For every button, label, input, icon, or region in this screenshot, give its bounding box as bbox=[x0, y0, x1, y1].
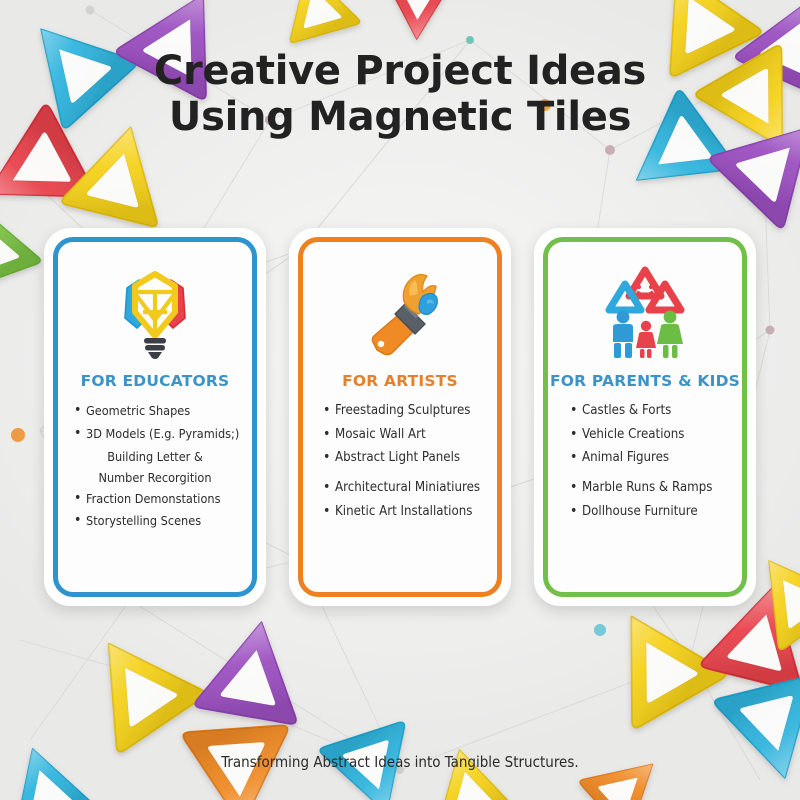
footer-tagline: Transforming Abstract Ideas into Tangibl… bbox=[221, 753, 578, 771]
list-item: Dollhouse Furniture bbox=[568, 503, 728, 522]
list-item: Marble Runs & Ramps bbox=[568, 479, 728, 498]
card-parents-kids[interactable]: FOR PARENTS & KIDS Castles & Forts Vehic… bbox=[534, 228, 756, 606]
list-item: 3D Models (E.g. Pyramids;) bbox=[72, 425, 238, 443]
card-heading-parents-kids: FOR PARENTS & KIDS bbox=[550, 372, 740, 390]
list-item-continuation: Number Recorgition bbox=[72, 469, 238, 487]
list-item: Castles & Forts bbox=[568, 402, 728, 421]
bullet-list-artists: Freestading Sculptures Mosaic Wall Art A… bbox=[313, 402, 487, 527]
poster-footer: Transforming Abstract Ideas into Tangibl… bbox=[0, 753, 800, 772]
list-item: Freestading Sculptures bbox=[321, 402, 483, 421]
list-item: Vehicle Creations bbox=[568, 426, 728, 445]
title-line-2: Using Magnetic Tiles bbox=[0, 94, 800, 140]
list-item: Geometric Shapes bbox=[72, 402, 238, 420]
list-item: Architectural Miniatiures bbox=[321, 479, 483, 498]
cards-row: FOR EDUCATORS Geometric Shapes 3D Models… bbox=[44, 228, 756, 606]
list-item: Kinetic Art Installations bbox=[321, 503, 483, 522]
list-item-continuation: Building Letter & bbox=[72, 448, 238, 466]
poster-header: Creative Project Ideas Using Magnetic Ti… bbox=[0, 48, 800, 141]
family-tiles-icon bbox=[595, 260, 695, 364]
paintbrush-icon bbox=[357, 260, 443, 364]
card-educators[interactable]: FOR EDUCATORS Geometric Shapes 3D Models… bbox=[44, 228, 266, 606]
bullet-list-parents-kids: Castles & Forts Vehicle Creations Animal… bbox=[558, 402, 732, 527]
title-line-1: Creative Project Ideas bbox=[0, 48, 800, 94]
list-item: Abstract Light Panels bbox=[321, 449, 483, 468]
card-heading-educators: FOR EDUCATORS bbox=[81, 372, 230, 390]
card-artists[interactable]: FOR ARTISTS Freestading Sculptures Mosai… bbox=[289, 228, 511, 606]
bullet-list-educators: Geometric Shapes 3D Models (E.g. Pyramid… bbox=[68, 402, 242, 535]
card-heading-artists: FOR ARTISTS bbox=[342, 372, 458, 390]
list-item: Animal Figures bbox=[568, 449, 728, 468]
list-item: Mosaic Wall Art bbox=[321, 426, 483, 445]
lightbulb-tiles-icon bbox=[113, 260, 197, 364]
list-item: Storystelling Scenes bbox=[72, 512, 238, 530]
poster-canvas: Creative Project Ideas Using Magnetic Ti… bbox=[0, 0, 800, 800]
list-item: Fraction Demonstations bbox=[72, 490, 238, 508]
